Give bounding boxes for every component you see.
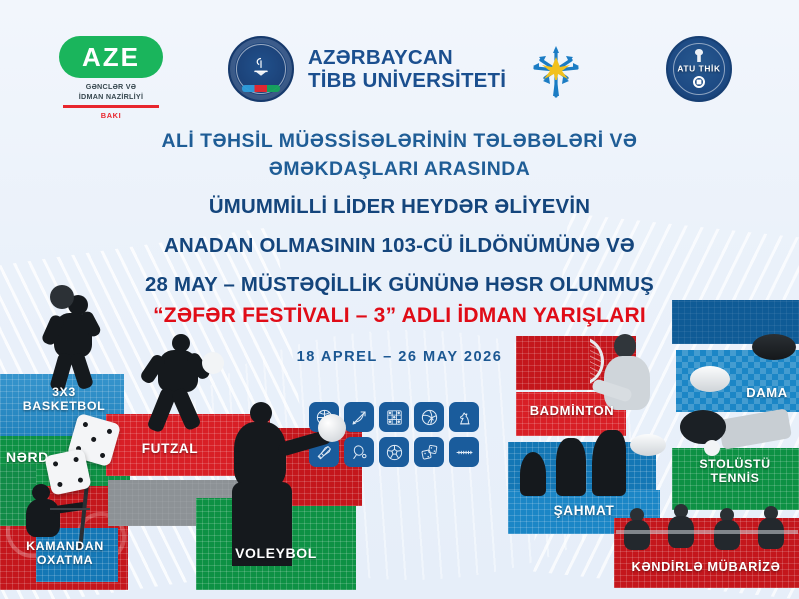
aze-subtitle: GƏNCLƏR VƏ İDMAN NAZİRLİYİ — [55, 82, 167, 101]
aze-mark: AZE — [82, 44, 140, 70]
volleyball-icon — [414, 402, 444, 432]
title-line-1: ALİ TƏHSİL MÜƏSSİSƏLƏRİNİN TƏLƏBƏLƏRİ VƏ — [0, 128, 799, 156]
backgammon-dice-icon — [414, 437, 444, 467]
title-line-4: ANADAN OLMASININ 103-CÜ İLDÖNÜMÜNƏ VƏ — [0, 231, 799, 261]
aze-divider — [63, 105, 159, 108]
label-futsal: FUTZAL — [110, 442, 230, 457]
chess-bishop — [556, 438, 586, 496]
checkers-board-icon — [379, 402, 409, 432]
label-archery: KAMANDAN OXATMA — [4, 540, 126, 567]
aze-pill: AZE — [59, 36, 163, 78]
title-line-3: ÜMUMMİLLİ LİDER HEYDƏR ƏLİYEVİN — [0, 192, 799, 222]
label-volleyball: VOLEYBOL — [200, 546, 352, 561]
title-line-5: 28 MAY – MÜSTƏQİLLİK GÜNÜNƏ HƏSR OLUNMUŞ — [0, 270, 799, 300]
photo-basketball-player — [28, 285, 114, 397]
label-dama: DAMA — [738, 386, 796, 400]
atu-thik-logo: ATU THİK — [666, 36, 732, 102]
checker-light — [690, 366, 730, 392]
chess-pawn — [520, 452, 546, 496]
tug-of-war-rope-icon — [449, 437, 479, 467]
label-tug-of-war: KƏNDİRLƏ MÜBARİZƏ — [616, 560, 796, 574]
aze-subtitle-line2: İDMAN NAZİRLİYİ — [55, 92, 167, 102]
aze-city-label: BAKI — [55, 111, 167, 120]
festival-poster: AZE GƏNCLƏR VƏ İDMAN NAZİRLİYİ BAKI — [0, 0, 799, 599]
aze-subtitle-line1: GƏNCLƏR VƏ — [55, 82, 167, 92]
checker-dark — [752, 334, 796, 360]
student-youth-tree-logo — [525, 36, 587, 102]
university-name-line2: TİBB UNİVERSİTETİ — [308, 69, 506, 92]
atu-thik-seal-icon: ATU THİK — [666, 36, 732, 102]
dice-2 — [44, 448, 91, 495]
amu-seal-icon — [228, 36, 294, 102]
header-logo-bar: AZE GƏNCLƏR VƏ İDMAN NAZİRLİYİ BAKI — [0, 14, 799, 106]
atu-thik-label: ATU THİK — [668, 64, 730, 73]
university-name-line1: AZƏRBAYCAN — [308, 46, 506, 69]
medical-university-logo: AZƏRBAYCAN TİBB UNİVERSİTETİ — [228, 36, 506, 102]
label-basketball: 3X3 BASKETBOL — [10, 386, 118, 413]
chess-knight-icon — [449, 402, 479, 432]
label-chess: ŞAHMAT — [512, 504, 656, 519]
label-table-tennis: STOLÜSTÜ TENNİS — [672, 458, 798, 485]
title-line-6-festival: “ZƏFƏR FESTİVALI – 3” ADLI İDMAN YARIŞLA… — [0, 301, 799, 331]
aze-ministry-logo: AZE GƏNCLƏR VƏ İDMAN NAZİRLİYİ BAKI — [55, 36, 167, 120]
label-badminton: BADMİNTON — [510, 404, 634, 418]
chess-white-disc — [630, 434, 666, 456]
university-name: AZƏRBAYCAN TİBB UNİVERSİTETİ — [308, 46, 506, 93]
title-line-2: ƏMƏKDAŞLARI ARASINDA — [0, 156, 799, 184]
football-icon — [379, 437, 409, 467]
chess-knight-piece — [592, 430, 626, 496]
photo-volleyball-player — [212, 396, 352, 566]
